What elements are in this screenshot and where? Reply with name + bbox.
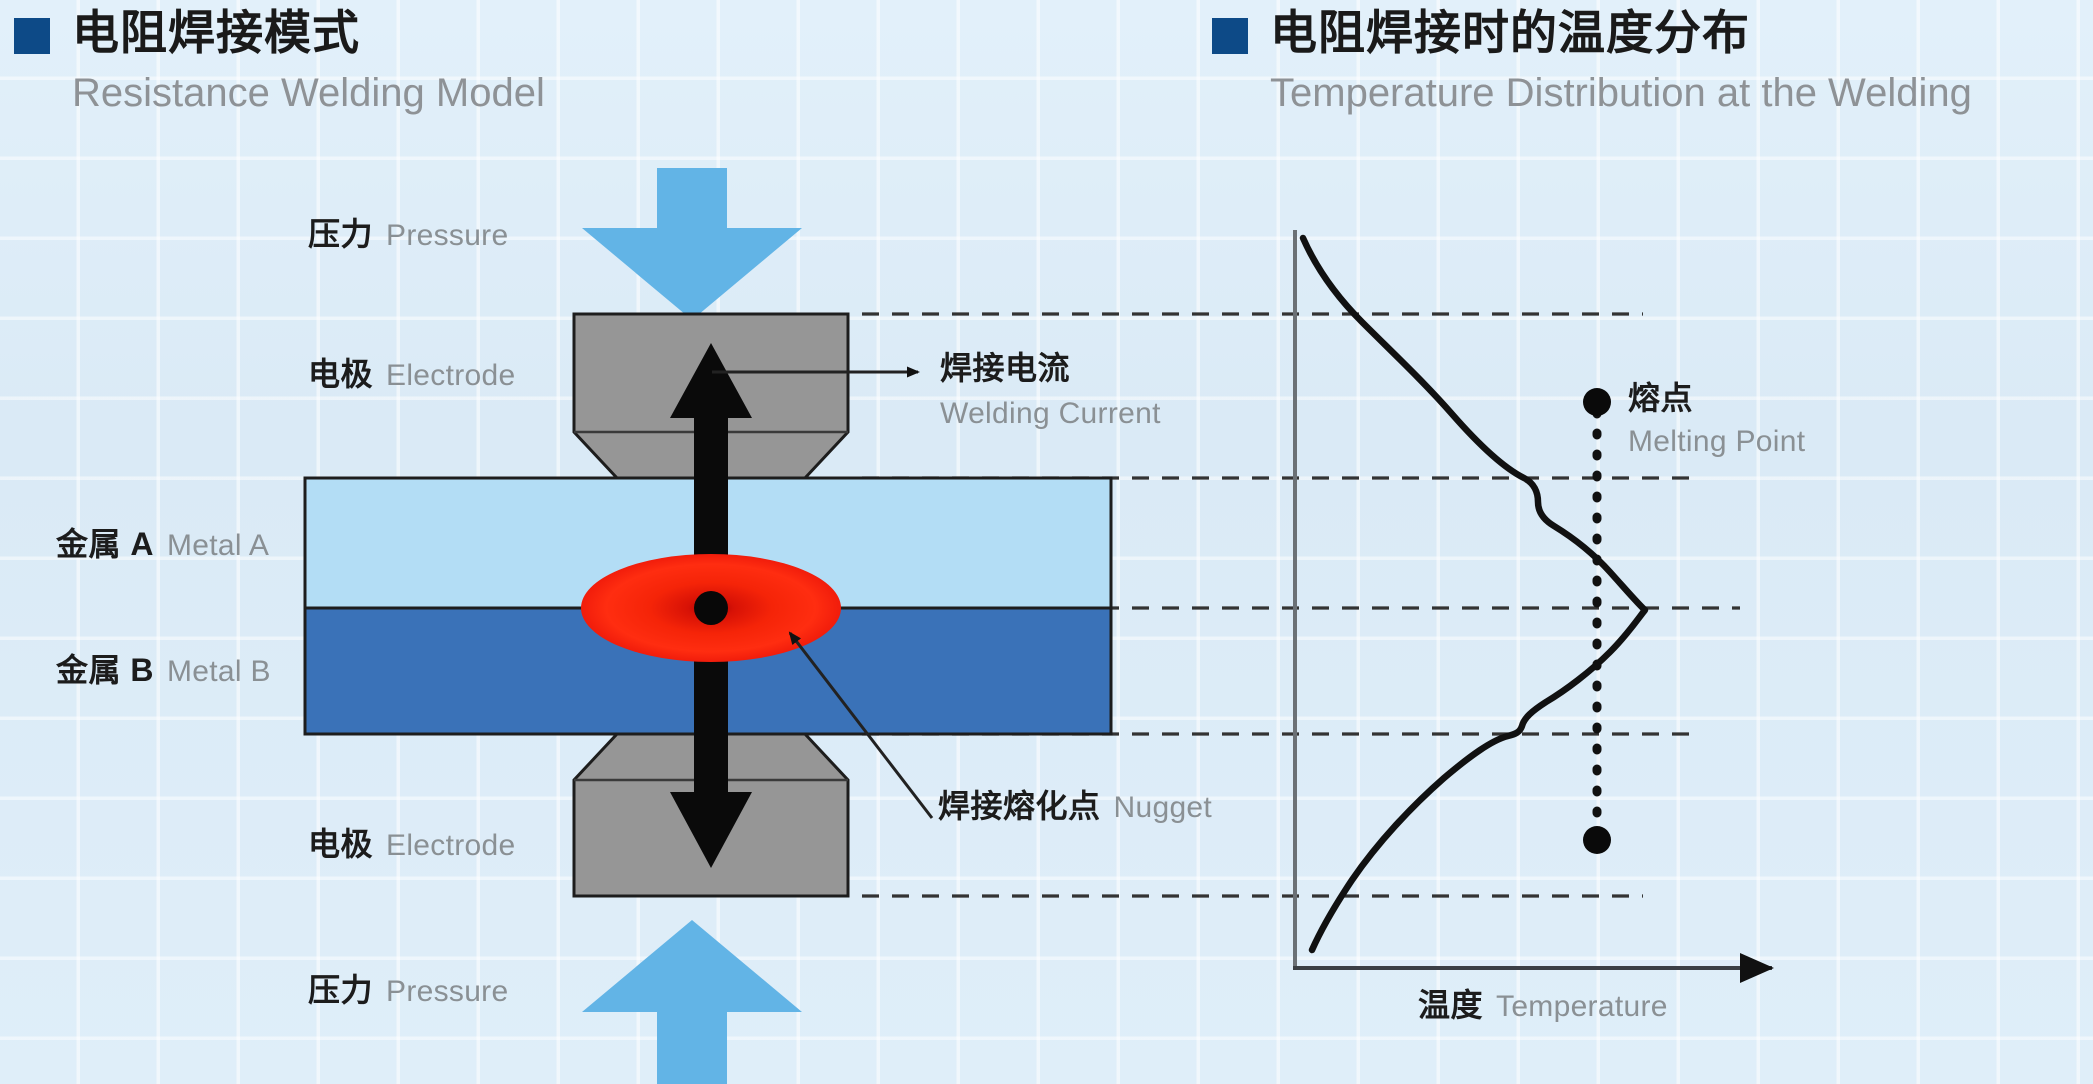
label-electrode-top: 电极Electrode — [308, 354, 515, 395]
pressure-arrow-bottom — [582, 920, 802, 1084]
label-electrode-top-cn: 电极 — [308, 356, 373, 392]
melting-point-dot-top — [1583, 388, 1611, 416]
label-melting-point-en: Melting Point — [1628, 423, 1805, 461]
label-electrode-bottom-cn: 电极 — [308, 826, 373, 862]
label-pressure-top-en: Pressure — [386, 219, 508, 252]
diagram-canvas — [0, 0, 2093, 1084]
label-melting-point: 熔点 Melting Point — [1628, 378, 1805, 461]
label-pressure-bottom: 压力Pressure — [308, 970, 508, 1011]
label-nugget: 焊接熔化点Nugget — [938, 786, 1212, 827]
label-metal-a-en: Metal A — [167, 529, 269, 562]
label-metal-a: 金属 AMetal A — [56, 524, 269, 565]
label-nugget-cn: 焊接熔化点 — [938, 788, 1101, 824]
label-pressure-bottom-en: Pressure — [386, 975, 508, 1008]
label-axis-temperature: 温度Temperature — [1418, 985, 1668, 1026]
label-metal-b-cn: 金属 B — [56, 652, 154, 688]
label-welding-current-cn: 焊接电流 — [940, 348, 1161, 389]
label-pressure-bottom-cn: 压力 — [308, 972, 373, 1008]
pressure-arrow-top — [582, 168, 802, 320]
label-welding-current: 焊接电流 Welding Current — [940, 348, 1161, 433]
label-axis-temperature-cn: 温度 — [1418, 987, 1483, 1023]
label-electrode-top-en: Electrode — [386, 359, 515, 392]
label-melting-point-cn: 熔点 — [1628, 378, 1805, 419]
label-metal-b-en: Metal B — [167, 655, 271, 688]
label-welding-current-en: Welding Current — [940, 395, 1161, 433]
nugget-center-dot — [694, 591, 728, 625]
melting-point-dot-bottom — [1583, 826, 1611, 854]
label-electrode-bottom-en: Electrode — [386, 829, 515, 862]
label-electrode-bottom: 电极Electrode — [308, 824, 515, 865]
label-nugget-en: Nugget — [1114, 791, 1213, 824]
label-axis-temperature-en: Temperature — [1496, 990, 1668, 1023]
label-metal-a-cn: 金属 A — [56, 526, 154, 562]
label-pressure-top: 压力Pressure — [308, 214, 508, 255]
label-pressure-top-cn: 压力 — [308, 216, 373, 252]
label-metal-b: 金属 BMetal B — [56, 650, 271, 691]
